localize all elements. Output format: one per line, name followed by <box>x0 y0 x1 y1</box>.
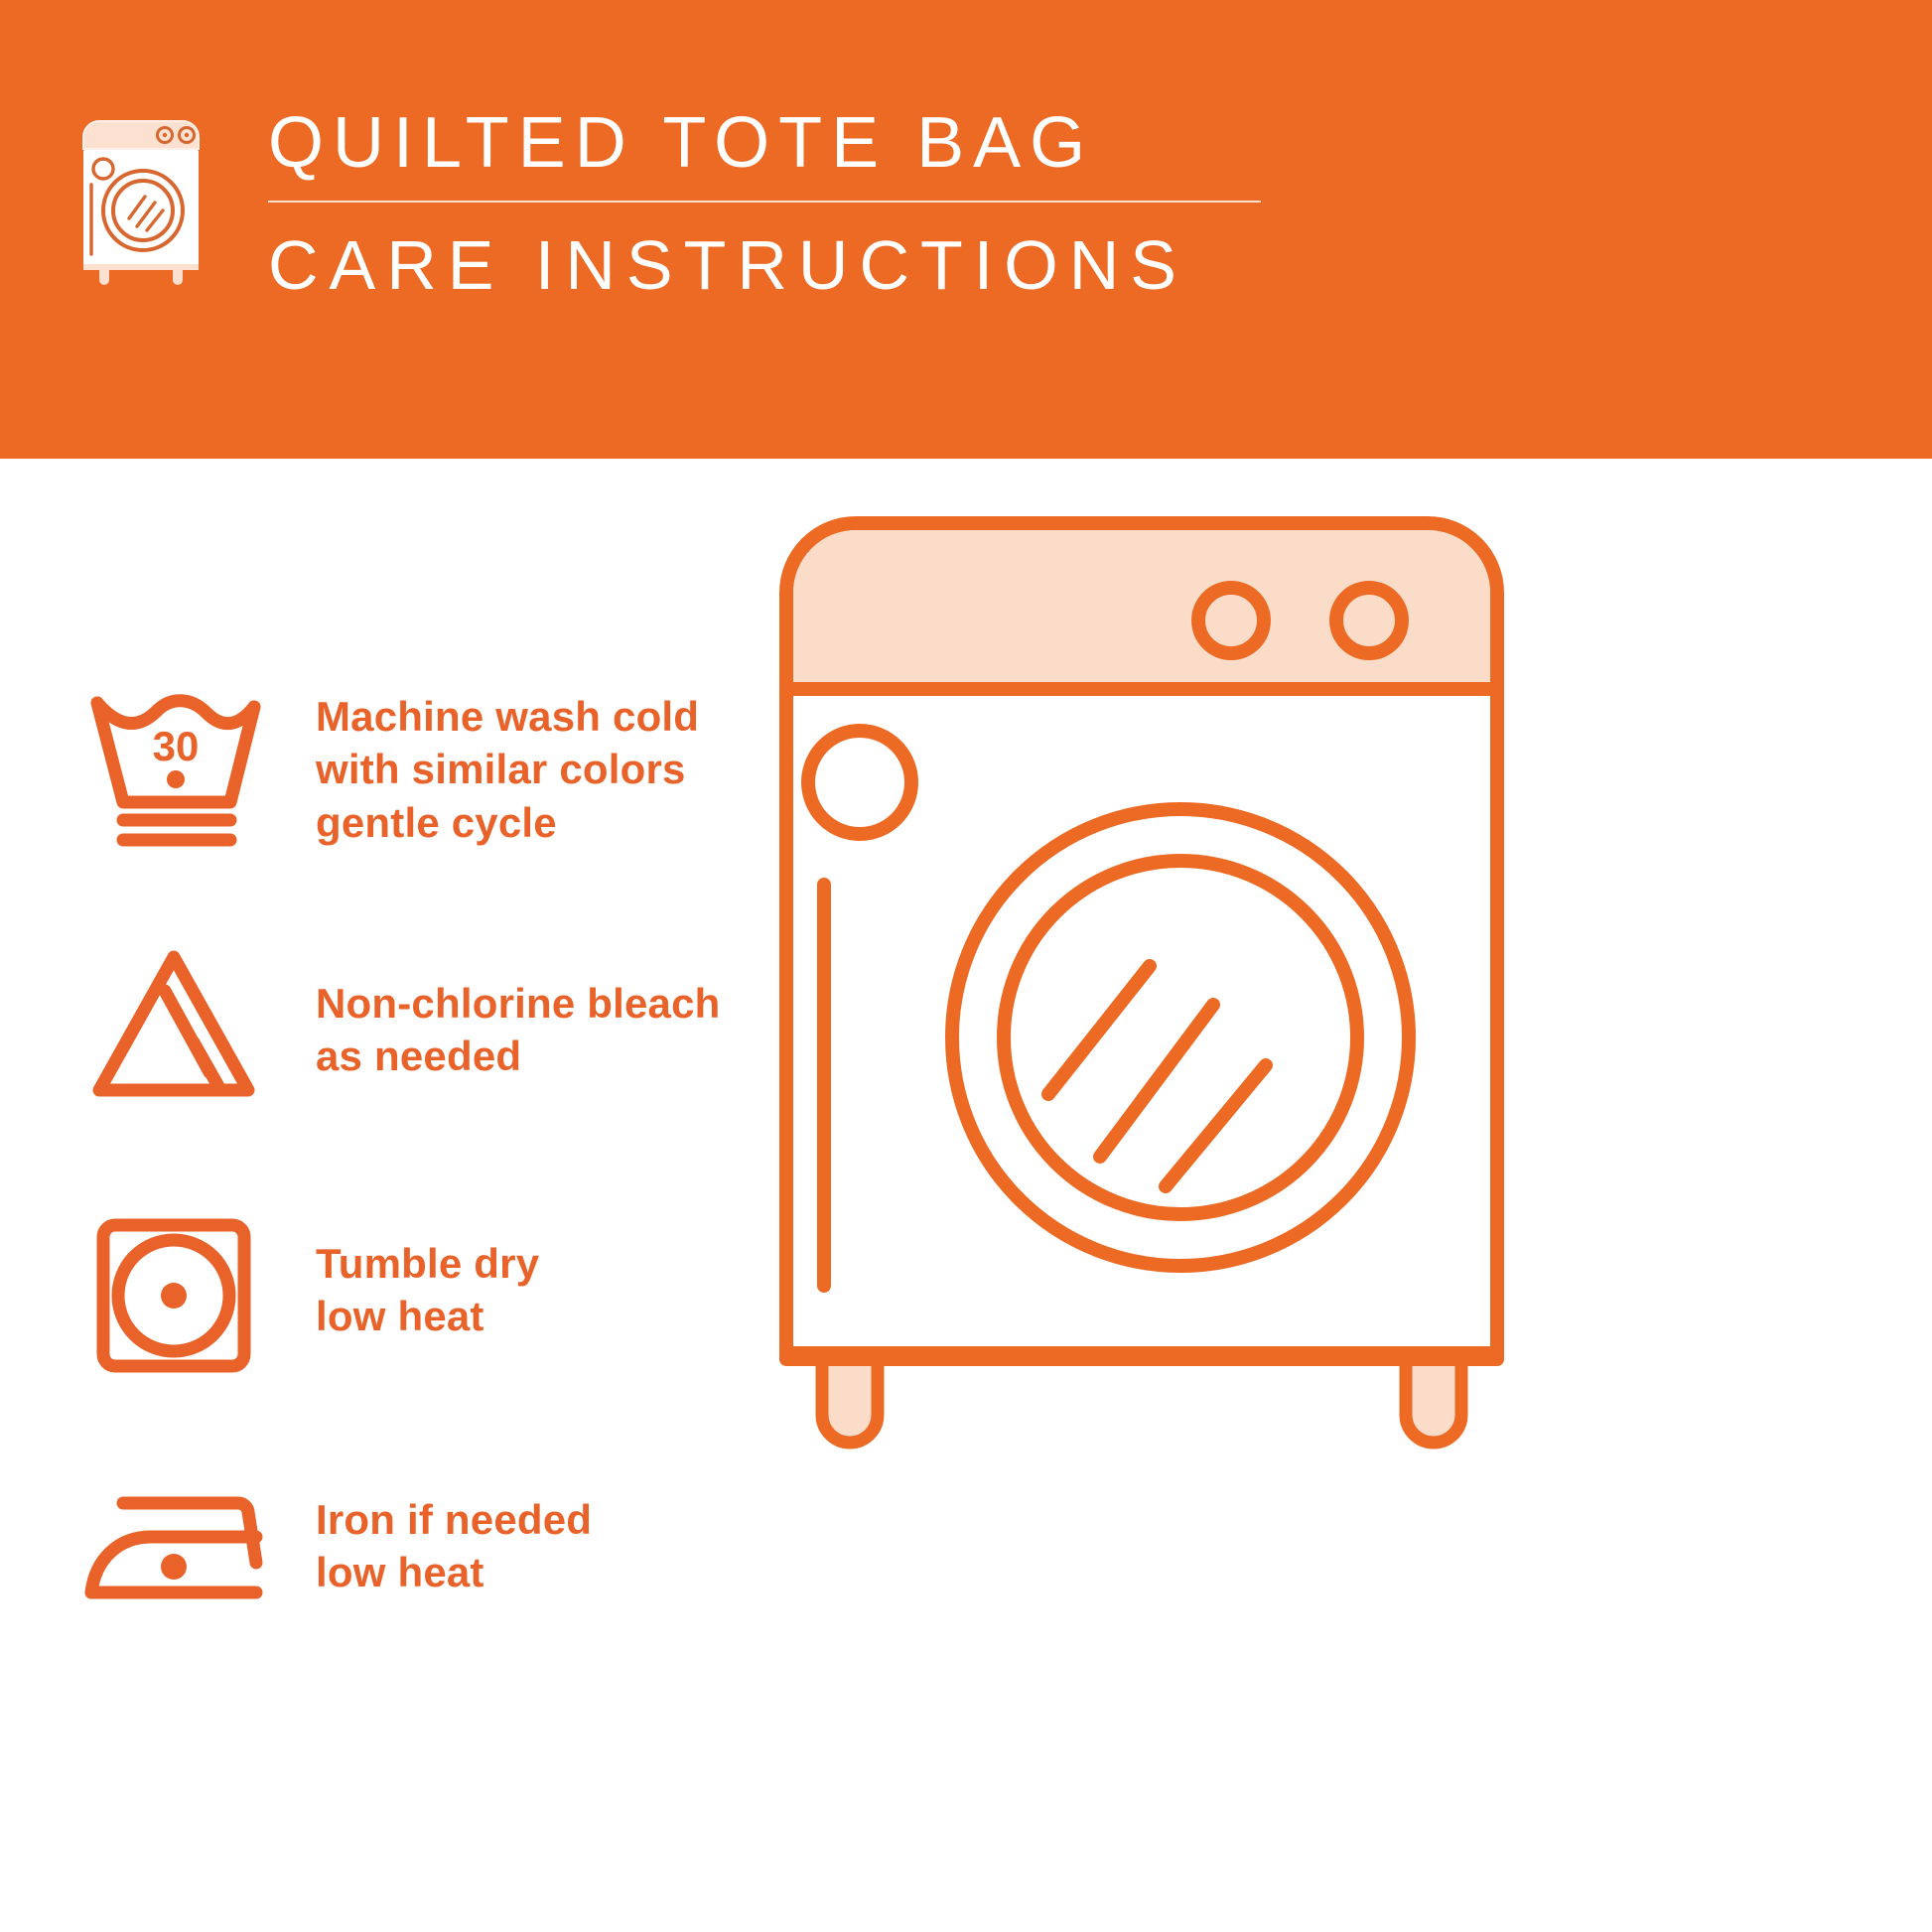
care-item-label: Machine wash cold with similar colors ge… <box>316 690 699 849</box>
care-item-iron: Iron if needed low heat <box>79 1451 874 1640</box>
care-item-label: Iron if needed low heat <box>316 1493 592 1599</box>
leg-right <box>1406 1355 1461 1443</box>
iron-low-heat-icon <box>79 1451 268 1640</box>
washing-machine-icon <box>77 115 205 286</box>
non-chlorine-bleach-triangle-icon <box>79 935 268 1124</box>
knob-left <box>1198 588 1264 653</box>
header-banner: QUILTED TOTE BAG CARE INSTRUCTIONS <box>0 0 1932 459</box>
care-item-machine-wash: 30 Machine wash cold with similar colors… <box>79 675 874 864</box>
care-instructions-list: 30 Machine wash cold with similar colors… <box>0 459 894 1932</box>
washing-machine-illustration <box>764 501 1519 1494</box>
page-subtitle: CARE INSTRUCTIONS <box>268 203 1261 300</box>
care-item-bleach: Non-chlorine bleach as needed <box>79 935 874 1124</box>
care-item-tumble-dry: Tumble dry low heat <box>79 1195 874 1384</box>
knob-right <box>1336 588 1402 653</box>
care-item-label: Tumble dry low heat <box>316 1237 539 1343</box>
header-titles: QUILTED TOTE BAG CARE INSTRUCTIONS <box>268 107 1261 300</box>
leg-left <box>822 1355 878 1443</box>
care-item-label: Non-chlorine bleach as needed <box>316 977 721 1083</box>
header-content: QUILTED TOTE BAG CARE INSTRUCTIONS <box>77 107 1261 300</box>
page-title: QUILTED TOTE BAG <box>268 107 1261 201</box>
tumble-dry-low-icon <box>79 1195 268 1384</box>
wash-basin-30-gentle-icon: 30 <box>79 675 268 864</box>
wash-temperature-label: 30 <box>153 723 200 769</box>
